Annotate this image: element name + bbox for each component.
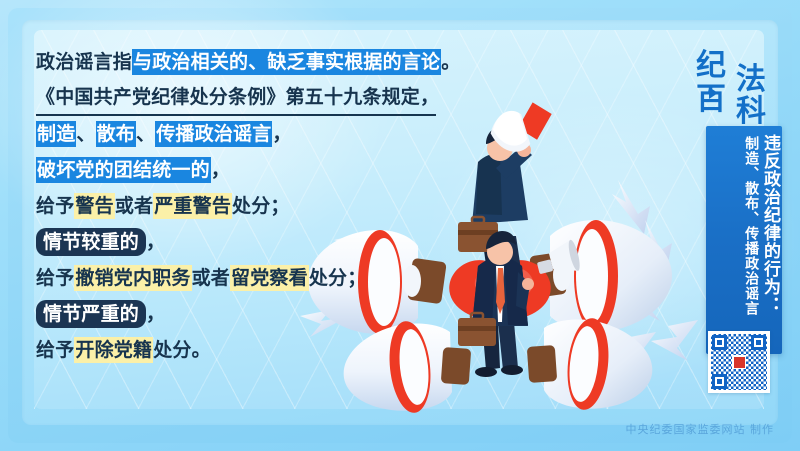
line-7-seg-3-hl-yellow: 留党察看 [230,265,309,291]
line-3-seg-0-hl-blue: 制造 [36,121,76,147]
line-7-seg-4-plain: 处分； [309,267,367,289]
line-5-seg-4-plain: 处分； [232,195,290,217]
line-3-seg-4-hl-blue: 传播政治谣言 [155,121,272,147]
line-8: 情节严重的， [36,296,506,332]
line-4-seg-1-plain: ， [211,159,230,181]
line-5-seg-2-plain: 或者 [115,195,153,217]
line-9-seg-2-plain: 处分。 [153,339,211,361]
line-3-seg-3-plain: 、 [136,123,155,145]
line-1: 政治谣言指与政治相关的、缺乏事实根据的言论。 [36,44,506,80]
line-2-seg-0-plain: 《中国共产党纪律处分条例》第五十九条 [36,86,382,108]
line-7-seg-2-plain: 或者 [192,267,230,289]
line-1-seg-0-plain: 政治谣言指 [36,51,132,73]
qr-finder-top-right [751,335,766,350]
line-2-seg-1-plain: 规定， [382,86,440,108]
line-8-seg-0-pill-navy: 情节严重的 [36,300,146,328]
vertical-banner: 违反政治纪律的行为： 制造、散布、传播政治谣言 [706,126,782,354]
qr-finder-top-left [712,335,727,350]
line-7-seg-1-hl-yellow: 撤销党内职务 [74,265,191,291]
line-1-seg-2-plain: 。 [441,51,460,73]
line-5: 给予警告或者严重警告处分； [36,188,506,224]
qr-pixels [711,334,767,390]
line-4: 破坏党的团结统一的， [36,152,506,188]
line-1-seg-1-hl-blue: 与政治相关的、缺乏事实根据的言论 [132,49,441,75]
line-9-seg-0-plain: 给予 [36,339,74,361]
line-3-seg-2-hl-blue: 散布 [96,121,136,147]
line-6-seg-1-plain: ， [146,231,165,253]
qr-finder-bottom-left [712,374,727,389]
line-4-seg-0-hl-blue: 破坏党的团结统一的 [36,157,211,183]
line-9-seg-1-hl-yellow: 开除党籍 [74,337,153,363]
line-6: 情节较重的， [36,224,506,260]
qr-center-logo [732,355,746,369]
body-text-block: 政治谣言指与政治相关的、缺乏事实根据的言论。《中国共产党纪律处分条例》第五十九条… [36,44,506,368]
line-3-seg-5-plain: ， [272,123,291,145]
line-5-seg-0-plain: 给予 [36,195,74,217]
line-7: 给予撤销党内职务或者留党察看处分； [36,260,506,296]
logo-char-ke: 科 [736,86,766,130]
line-6-seg-0-pill-navy: 情节较重的 [36,228,146,256]
line-5-seg-3-hl-yellow: 严重警告 [153,193,232,219]
line-2: 《中国共产党纪律处分条例》第五十九条规定， [36,80,436,116]
megaphone-bottom-right [527,316,653,412]
footer-credit: 中央纪委国家监委网站 制作 [626,421,775,437]
line-3-seg-1-plain: 、 [76,123,95,145]
banner-sub-text: 制造、散布、传播政治谣言 [743,134,758,346]
poster-canvas: 政治谣言指与政治相关的、缺乏事实根据的言论。《中国共产党纪律处分条例》第五十九条… [0,0,800,451]
banner-main-text: 违反政治纪律的行为： [760,134,778,346]
brand-logo[interactable]: 纪 法 百 科 [692,40,788,122]
line-3: 制造、散布、传播政治谣言， [36,116,506,152]
qr-code[interactable] [708,331,770,393]
play-triangle-icon [709,87,718,99]
line-9: 给予开除党籍处分。 [36,332,506,368]
line-8-seg-1-plain: ， [146,303,165,325]
line-7-seg-0-plain: 给予 [36,267,74,289]
line-5-seg-1-hl-yellow: 警告 [74,193,114,219]
